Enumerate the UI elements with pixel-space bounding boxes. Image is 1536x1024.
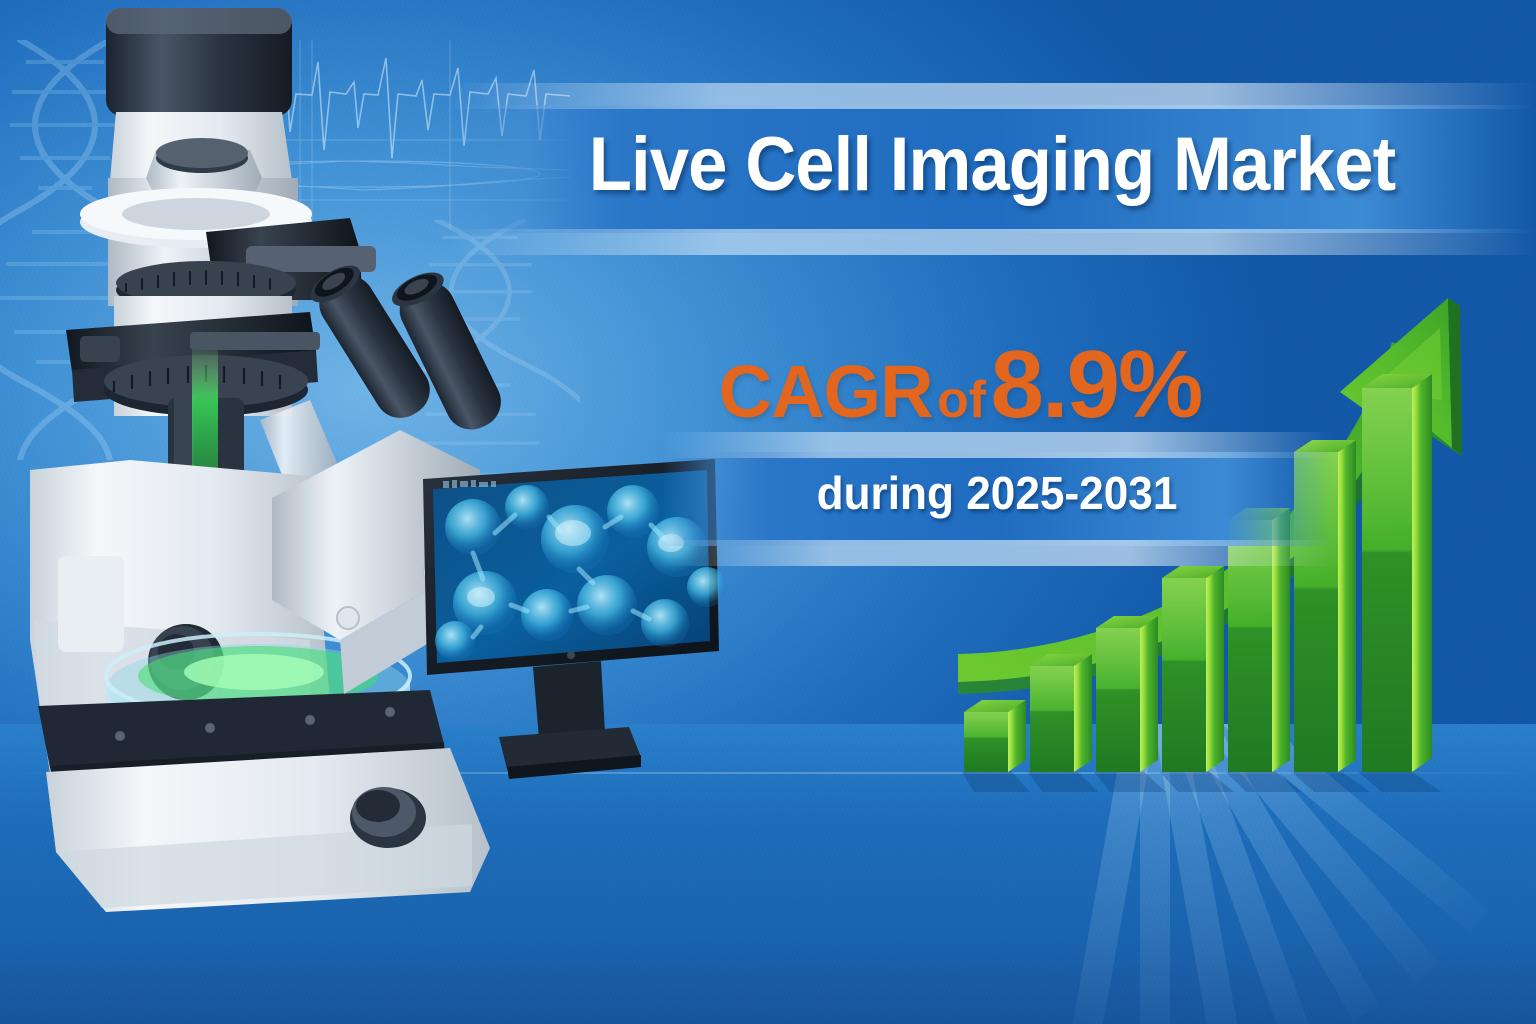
chart-bar xyxy=(1362,374,1432,772)
cagr-label: CAGR xyxy=(719,350,933,433)
cagr-of-label: of xyxy=(937,371,986,429)
forecast-period: during 2025-2031 xyxy=(675,466,1318,520)
chart-bar xyxy=(1030,654,1092,772)
period-banner: during 2025-2031 xyxy=(662,452,1332,546)
title-banner: Live Cell Imaging Market xyxy=(448,105,1536,233)
poster-canvas: Live Cell Imaging Market CAGR of 8.9% du… xyxy=(0,0,1536,1024)
chart-bar xyxy=(1096,616,1158,772)
chart-bar xyxy=(964,700,1026,772)
page-title: Live Cell Imaging Market xyxy=(486,121,1498,208)
chart-bar xyxy=(1162,566,1224,772)
cagr-value: 8.9% xyxy=(991,331,1202,438)
cagr-headline: CAGR of 8.9% xyxy=(560,330,1360,440)
